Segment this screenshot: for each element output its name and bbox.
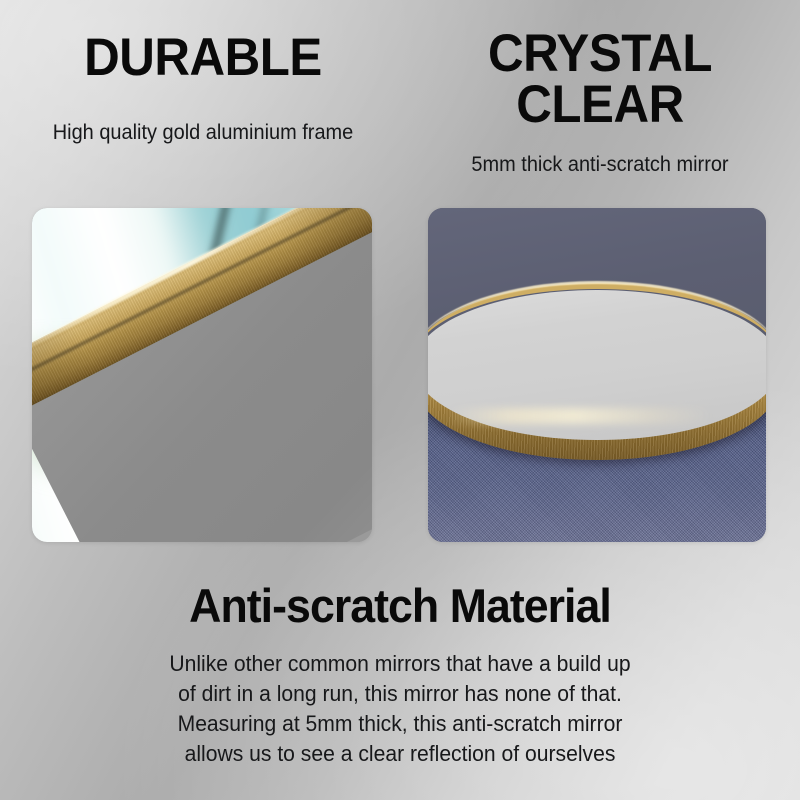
- bottom-description-block: Anti-scratch Material Unlike other commo…: [0, 582, 800, 769]
- bottom-body-text: Unlike other common mirrors that have a …: [16, 649, 784, 769]
- feature-image-gold-frame-closeup: [32, 208, 372, 542]
- feature-subtitle-durable: High quality gold aluminium frame: [18, 119, 389, 146]
- feature-column-durable: DURABLE High quality gold aluminium fram…: [8, 0, 398, 146]
- photo-rim-specular-highlight: [448, 408, 712, 424]
- bottom-heading: Anti-scratch Material: [20, 582, 780, 629]
- product-feature-poster: DURABLE High quality gold aluminium fram…: [0, 0, 800, 800]
- feature-image-mirror-on-denim: [428, 208, 766, 542]
- feature-headline-durable: DURABLE: [22, 33, 385, 84]
- feature-subtitle-crystal-clear: 5mm thick anti-scratch mirror: [414, 151, 786, 178]
- feature-column-crystal-clear: CRYSTAL CLEAR 5mm thick anti-scratch mir…: [404, 0, 796, 178]
- feature-headline-crystal-clear: CRYSTAL CLEAR: [418, 29, 783, 131]
